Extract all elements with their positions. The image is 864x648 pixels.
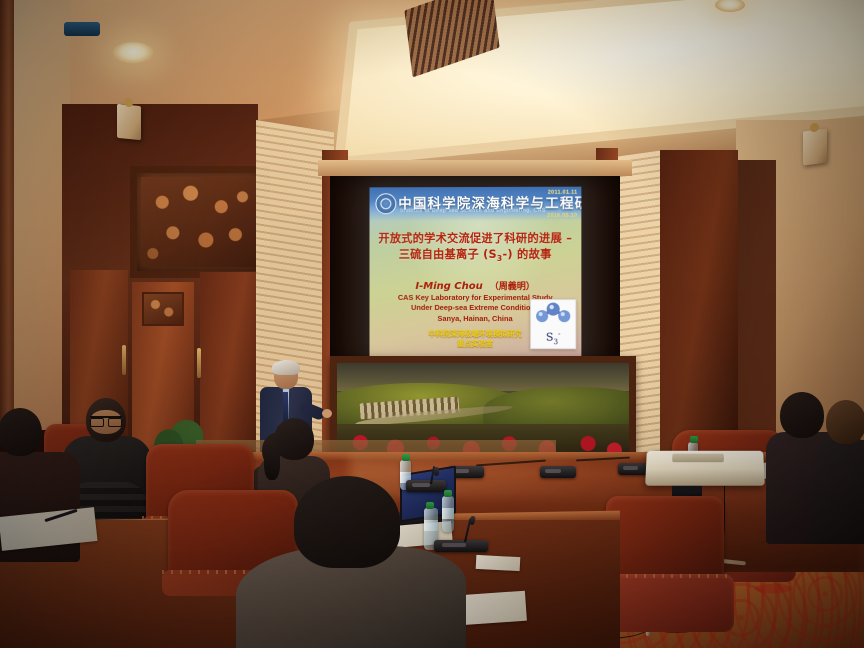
presenter-hand bbox=[322, 409, 332, 418]
presenter-hair bbox=[272, 360, 300, 375]
molecule-charge: - bbox=[558, 330, 560, 338]
microphone-base bbox=[540, 466, 576, 478]
wall-speaker bbox=[117, 104, 141, 141]
downlight bbox=[112, 42, 154, 64]
foreground-audience-member bbox=[236, 476, 466, 648]
microphone-capsule bbox=[469, 516, 476, 526]
slide-date-top: 2011.01.11 bbox=[548, 190, 578, 196]
person-head bbox=[274, 418, 314, 460]
alcove-frame bbox=[318, 160, 632, 176]
chair-back bbox=[606, 496, 724, 584]
person-body bbox=[814, 440, 864, 544]
projector bbox=[645, 451, 765, 486]
carved-wood-relief-panel bbox=[130, 166, 270, 278]
cas-logo-icon bbox=[375, 193, 396, 214]
slide-title: 开放式的学术交流促进了科研的进展 – 三硫自由基离子 (S3-) 的故事 bbox=[369, 231, 581, 267]
wall-speaker bbox=[803, 129, 827, 166]
person-head bbox=[780, 392, 824, 438]
audience-member bbox=[820, 400, 864, 540]
molecule-formula-label: S3- bbox=[531, 330, 575, 346]
door-handle bbox=[197, 348, 201, 378]
slide-title-line2: 三硫自由基离子 (S3-) 的故事 bbox=[369, 247, 581, 267]
molecule-subscript: 3 bbox=[554, 338, 558, 346]
eyeglasses-icon bbox=[90, 416, 122, 425]
title-line2-pre: 三硫自由基离子 (S bbox=[399, 248, 497, 261]
trisulfur-molecule-icon bbox=[534, 302, 572, 328]
projector-top-panel bbox=[672, 454, 724, 463]
paper-sheet bbox=[476, 555, 521, 571]
chair-studs bbox=[608, 574, 734, 578]
conference-chair bbox=[606, 496, 736, 646]
institute-name-english: Institute of Deep-sea Science and Engine… bbox=[400, 208, 545, 214]
door-handle bbox=[122, 345, 126, 375]
slide-author: I-Ming Chou（周義明） bbox=[369, 279, 581, 292]
person-head bbox=[826, 400, 864, 444]
molecule-inset-box: S3- bbox=[530, 299, 576, 349]
left-wall bbox=[0, 0, 70, 430]
slide-title-line1: 开放式的学术交流促进了科研的进展 – bbox=[369, 231, 581, 247]
conference-microphone bbox=[540, 464, 576, 478]
person-head bbox=[294, 476, 400, 568]
slide-date-bottom: 2016.05.10 bbox=[547, 213, 577, 219]
door-carving-inset bbox=[142, 292, 184, 326]
chair-seat bbox=[608, 574, 734, 632]
projector-lens bbox=[64, 22, 100, 36]
carving-texture bbox=[141, 177, 259, 267]
author-name-english: I-Ming Chou bbox=[415, 281, 482, 292]
projection-screen: 中国科学院深海科学与工程研究所 Institute of Deep-sea Sc… bbox=[369, 187, 581, 360]
author-name-chinese: （周義明） bbox=[490, 282, 535, 292]
conference-room-photo: 中国科学院深海科学与工程研究所 Institute of Deep-sea Sc… bbox=[0, 0, 864, 648]
person-head bbox=[0, 408, 42, 456]
title-line2-post: -) 的故事 bbox=[502, 248, 551, 261]
wood-column bbox=[660, 150, 738, 470]
microphone-capsule bbox=[434, 467, 439, 476]
